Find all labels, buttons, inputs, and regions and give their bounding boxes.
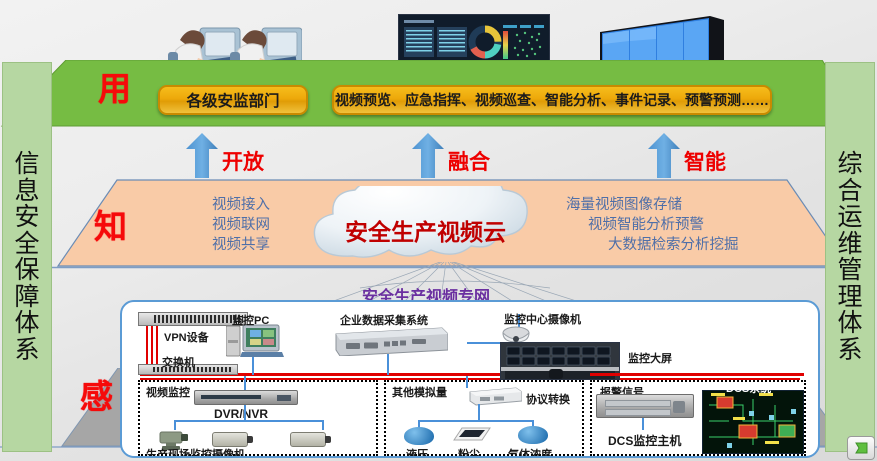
pillar-right-char-1: 合	[837, 178, 862, 205]
layer-letter-use: 用	[98, 62, 131, 110]
pillar-left-information-security: 信 息 安 全 保 障 体 系	[2, 62, 52, 452]
dcs-host-icon	[596, 394, 694, 418]
blue-link-proto-top	[466, 376, 468, 388]
blue-link-analog-bus	[418, 420, 534, 422]
corner-badge-icon[interactable]	[847, 436, 875, 460]
dvr-nvr-label: DVR/NVR	[214, 407, 268, 421]
infrastructure-panel: VPN设备 交换机 监控PC	[120, 300, 820, 458]
dvr-nvr-icon	[194, 390, 298, 405]
top-box-authority-label: 各级安监部门	[186, 89, 279, 111]
monitor-pc-icon	[226, 324, 284, 358]
box-camera-1-icon	[212, 432, 248, 447]
pillar-left-char-3: 全	[14, 231, 39, 258]
cloud-right-line-3: 大数据检索分析挖掘	[608, 235, 746, 255]
diagram-canvas: 用 各级安监部门 视频预览、应急指挥、视频巡查、智能分析、事件记录、预警预测………	[0, 0, 877, 461]
dcs-system-screen	[702, 390, 804, 454]
arrow-fusion-label: 融合	[448, 146, 490, 176]
vpn-device-label: VPN设备	[164, 329, 209, 345]
blue-link-pc	[252, 357, 254, 375]
pillar-right-char-4: 管	[837, 257, 862, 284]
dust-label: 粉尘	[458, 446, 480, 458]
control-center-camera-label: 监控中心摄像机	[504, 311, 581, 327]
dust-sensor-icon	[452, 426, 492, 444]
blue-link-dvr-drop	[244, 405, 246, 421]
blue-link-dvr-top	[244, 376, 246, 390]
box-camera-2-icon	[290, 432, 326, 447]
arrow-open-label: 开放	[222, 146, 264, 176]
hydraulic-sensor-icon	[404, 427, 434, 445]
blue-link-dvr-bus	[174, 420, 324, 422]
arrow-intelligent	[648, 133, 680, 178]
pillar-right-char-3: 维	[837, 231, 862, 258]
pillar-left-char-7: 系	[14, 337, 39, 364]
protocol-converter-label: 协议转换	[526, 391, 570, 407]
top-box-functions-label: 视频预览、应急指挥、视频巡查、智能分析、事件记录、预警预测……	[335, 90, 769, 110]
pillar-left-char-5: 障	[14, 284, 39, 311]
top-box-functions[interactable]: 视频预览、应急指挥、视频巡查、智能分析、事件记录、预警预测……	[332, 85, 772, 115]
video-wall-label: 监控大屏	[628, 350, 672, 366]
pillar-right-char-0: 综	[837, 151, 862, 178]
site-camera-label: 生产现场监控摄像机	[146, 446, 245, 458]
cloud-left-lines: 视频接入 视频联网 视频共享	[130, 195, 270, 255]
gas-concentration-label: 气体浓度	[508, 446, 552, 458]
cloud-left-line-3: 视频共享	[130, 235, 270, 255]
dcs-system-label: DCS系统	[726, 380, 771, 396]
cloud-right-line-1: 海量视频图像存储	[566, 195, 746, 215]
analog-signal-title: 其他模拟量	[392, 384, 447, 400]
top-box-authority[interactable]: 各级安监部门	[158, 85, 308, 115]
cloud-right-lines: 海量视频图像存储 视频智能分析预警 大数据检索分析挖掘	[566, 195, 746, 255]
monitor-pc-label: 监控PC	[232, 312, 269, 328]
pillar-right-operations-management: 综 合 运 维 管 理 体 系	[825, 62, 875, 452]
dcs-host-label: DCS监控主机	[608, 432, 681, 449]
pillar-right-char-2: 运	[837, 204, 862, 231]
cloud-title: 安全生产视频云	[345, 213, 506, 247]
data-collector-label: 企业数据采集系统	[340, 312, 428, 328]
layer-letter-sense: 感	[80, 370, 113, 418]
cloud-left-line-1: 视频接入	[130, 195, 270, 215]
arrow-intelligent-label: 智能	[684, 146, 726, 176]
cloud-right-line-2: 视频智能分析预警	[588, 215, 746, 235]
video-surveillance-title: 视频监控	[146, 384, 190, 400]
pillar-right-char-6: 体	[837, 310, 862, 337]
pillar-left-char-4: 保	[14, 257, 39, 284]
cloud-left-line-2: 视频联网	[130, 215, 270, 235]
pillar-left-char-6: 体	[14, 310, 39, 337]
pillar-left-char-2: 安	[14, 204, 39, 231]
blue-link-analog-drop	[478, 404, 480, 421]
arrow-open	[186, 133, 218, 178]
red-bus-right	[590, 373, 804, 376]
blue-link-collector	[387, 354, 389, 375]
pillar-left-char-0: 信	[14, 151, 39, 178]
pillar-left-char-1: 息	[14, 178, 39, 205]
layer-letter-know: 知	[94, 200, 127, 248]
protocol-converter-icon	[466, 386, 522, 406]
arrow-fusion	[412, 133, 444, 178]
blue-link-dcs-host	[642, 418, 644, 430]
hydraulic-label: 液压	[406, 446, 428, 458]
switch-label: 交换机	[162, 354, 195, 370]
gas-sensor-icon	[518, 426, 548, 444]
blue-link-cam3	[322, 420, 324, 430]
pillar-right-char-5: 理	[837, 284, 862, 311]
pillar-right-char-7: 系	[837, 337, 862, 364]
data-collector-icon	[330, 326, 448, 356]
